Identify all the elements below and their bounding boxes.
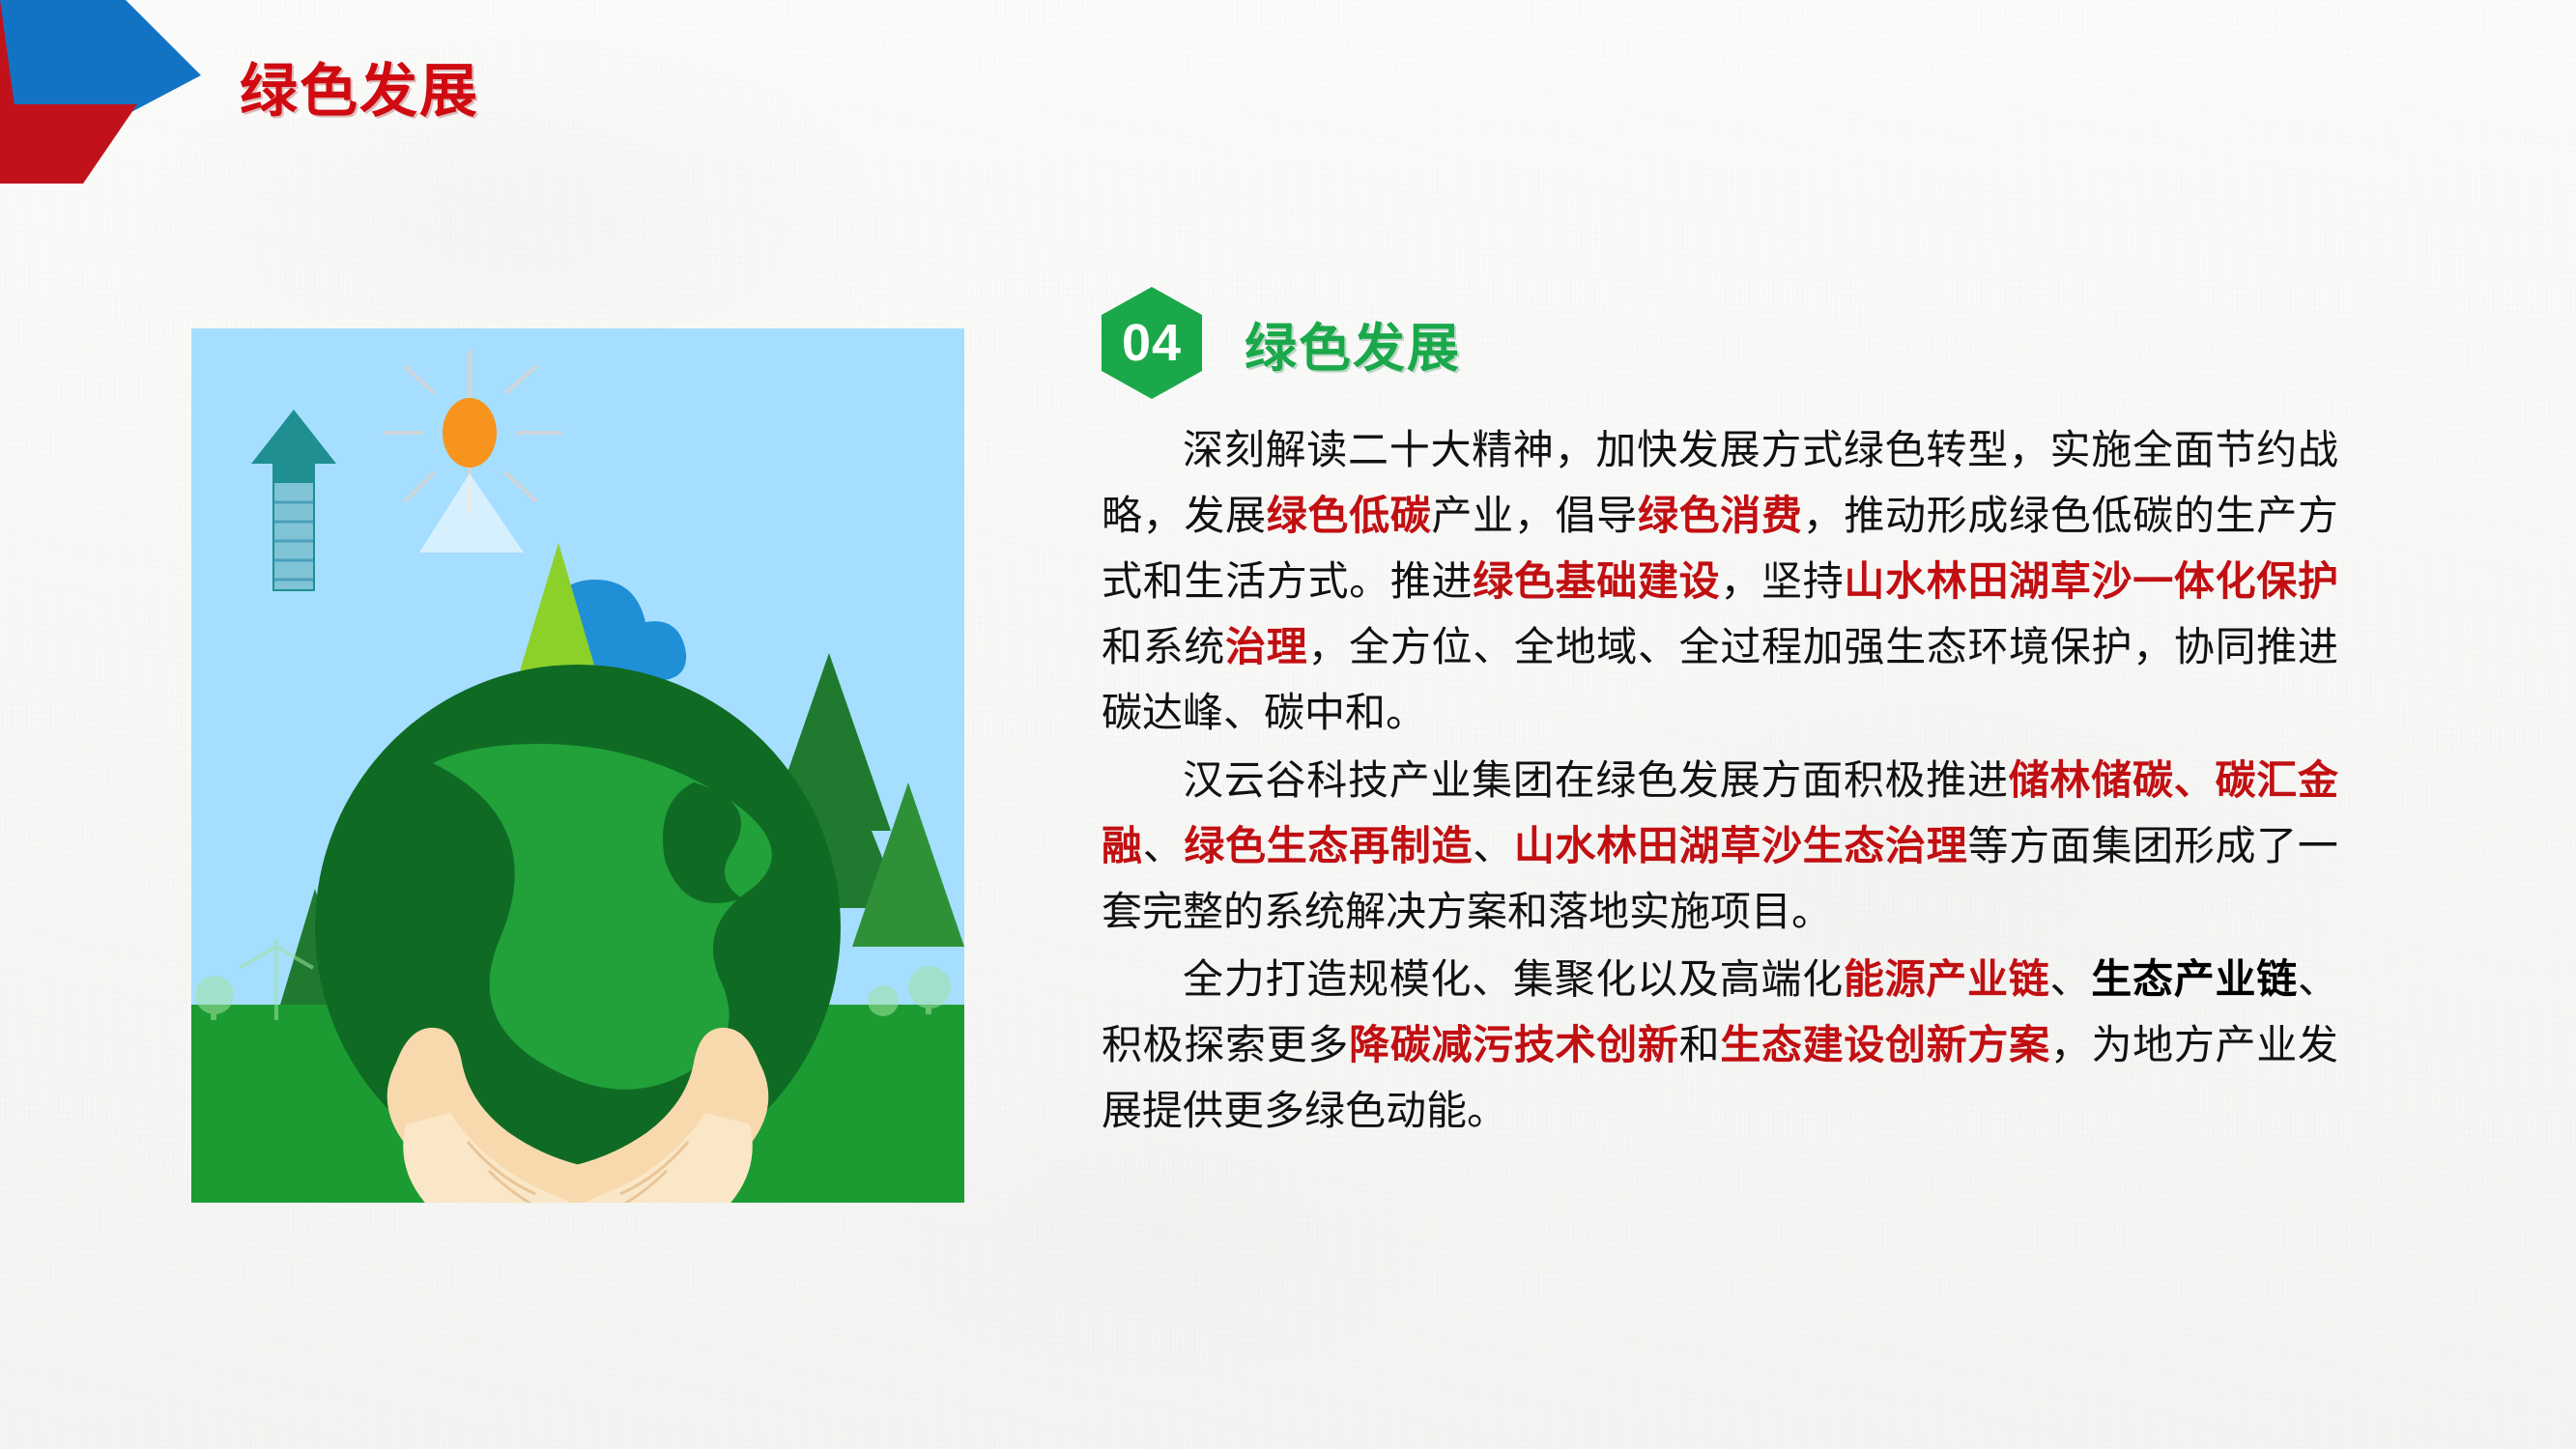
corner-red-back-shape [0,0,92,126]
paragraph-p3: 全力打造规模化、集聚化以及高端化能源产业链、生态产业链、积极探索更多降碳减污技术… [1102,947,2338,1144]
emphasis-text: 绿色基础建设 [1473,557,1720,605]
emphasis-text: 绿色低碳 [1267,492,1432,539]
content-column: 04 绿色发展 深刻解读二十大精神，加快发展方式绿色转型，实施全面节约战略，发展… [1102,290,2338,1146]
plain-text: 、 [2050,955,2092,1003]
plain-text: 、 [1473,822,1514,869]
emphasis-text: 绿色生态再制造 [1184,822,1473,869]
emphasis-text: 降碳减污技术创新 [1349,1021,1679,1068]
section-header: 04 绿色发展 [1102,290,2338,396]
body-text: 深刻解读二十大精神，加快发展方式绿色转型，实施全面节约战略，发展绿色低碳产业，倡… [1102,417,2338,1144]
plain-text: 和 [1679,1021,1721,1068]
section-title: 绿色发展 [1245,305,1461,382]
corner-red-front-shape [0,104,137,184]
emphasis-text: 储林储碳 [2009,756,2174,804]
paragraph-p1: 深刻解读二十大精神，加快发展方式绿色转型，实施全面节约战略，发展绿色低碳产业，倡… [1102,417,2338,746]
sun-disc [443,398,497,468]
emphasis-text: 治理 [1225,623,1307,670]
slide-canvas: 绿色发展 [0,0,2576,1449]
emphasis-text: 能源产业链 [1844,955,2050,1003]
section-number-badge: 04 [1102,287,1202,399]
page-title: 绿色发展 [240,44,479,128]
emphasis-text: 生态产业链 [2091,955,2298,1003]
emphasis-text: 绿色消费 [1638,492,1803,539]
corner-blue-shape [0,0,201,169]
eco-illustration [191,328,964,1203]
corner-decoration [0,0,251,193]
emphasis-text: 山水林田湖草沙一体化保护 [1844,557,2338,605]
plain-text: 、 [1143,822,1185,869]
emphasis-text: 山水林田湖草沙生态治理 [1514,822,1968,869]
plain-text: 产业，倡导 [1432,492,1638,539]
emphasis-text: 生态建设创新方案 [1720,1021,2050,1068]
section-number: 04 [1122,317,1182,369]
paragraph-p2: 汉云谷科技产业集团在绿色发展方面积极推进储林储碳、碳汇金融、绿色生态再制造、山水… [1102,748,2338,945]
plain-text: ，坚持 [1720,557,1844,605]
emphasis-text: 、 [2174,756,2216,804]
plain-text: 汉云谷科技产业集团在绿色发展方面积极推进 [1183,756,2009,804]
plain-text: 全力打造规模化、集聚化以及高端化 [1183,955,1844,1003]
plain-text: 和系统 [1102,623,1225,670]
